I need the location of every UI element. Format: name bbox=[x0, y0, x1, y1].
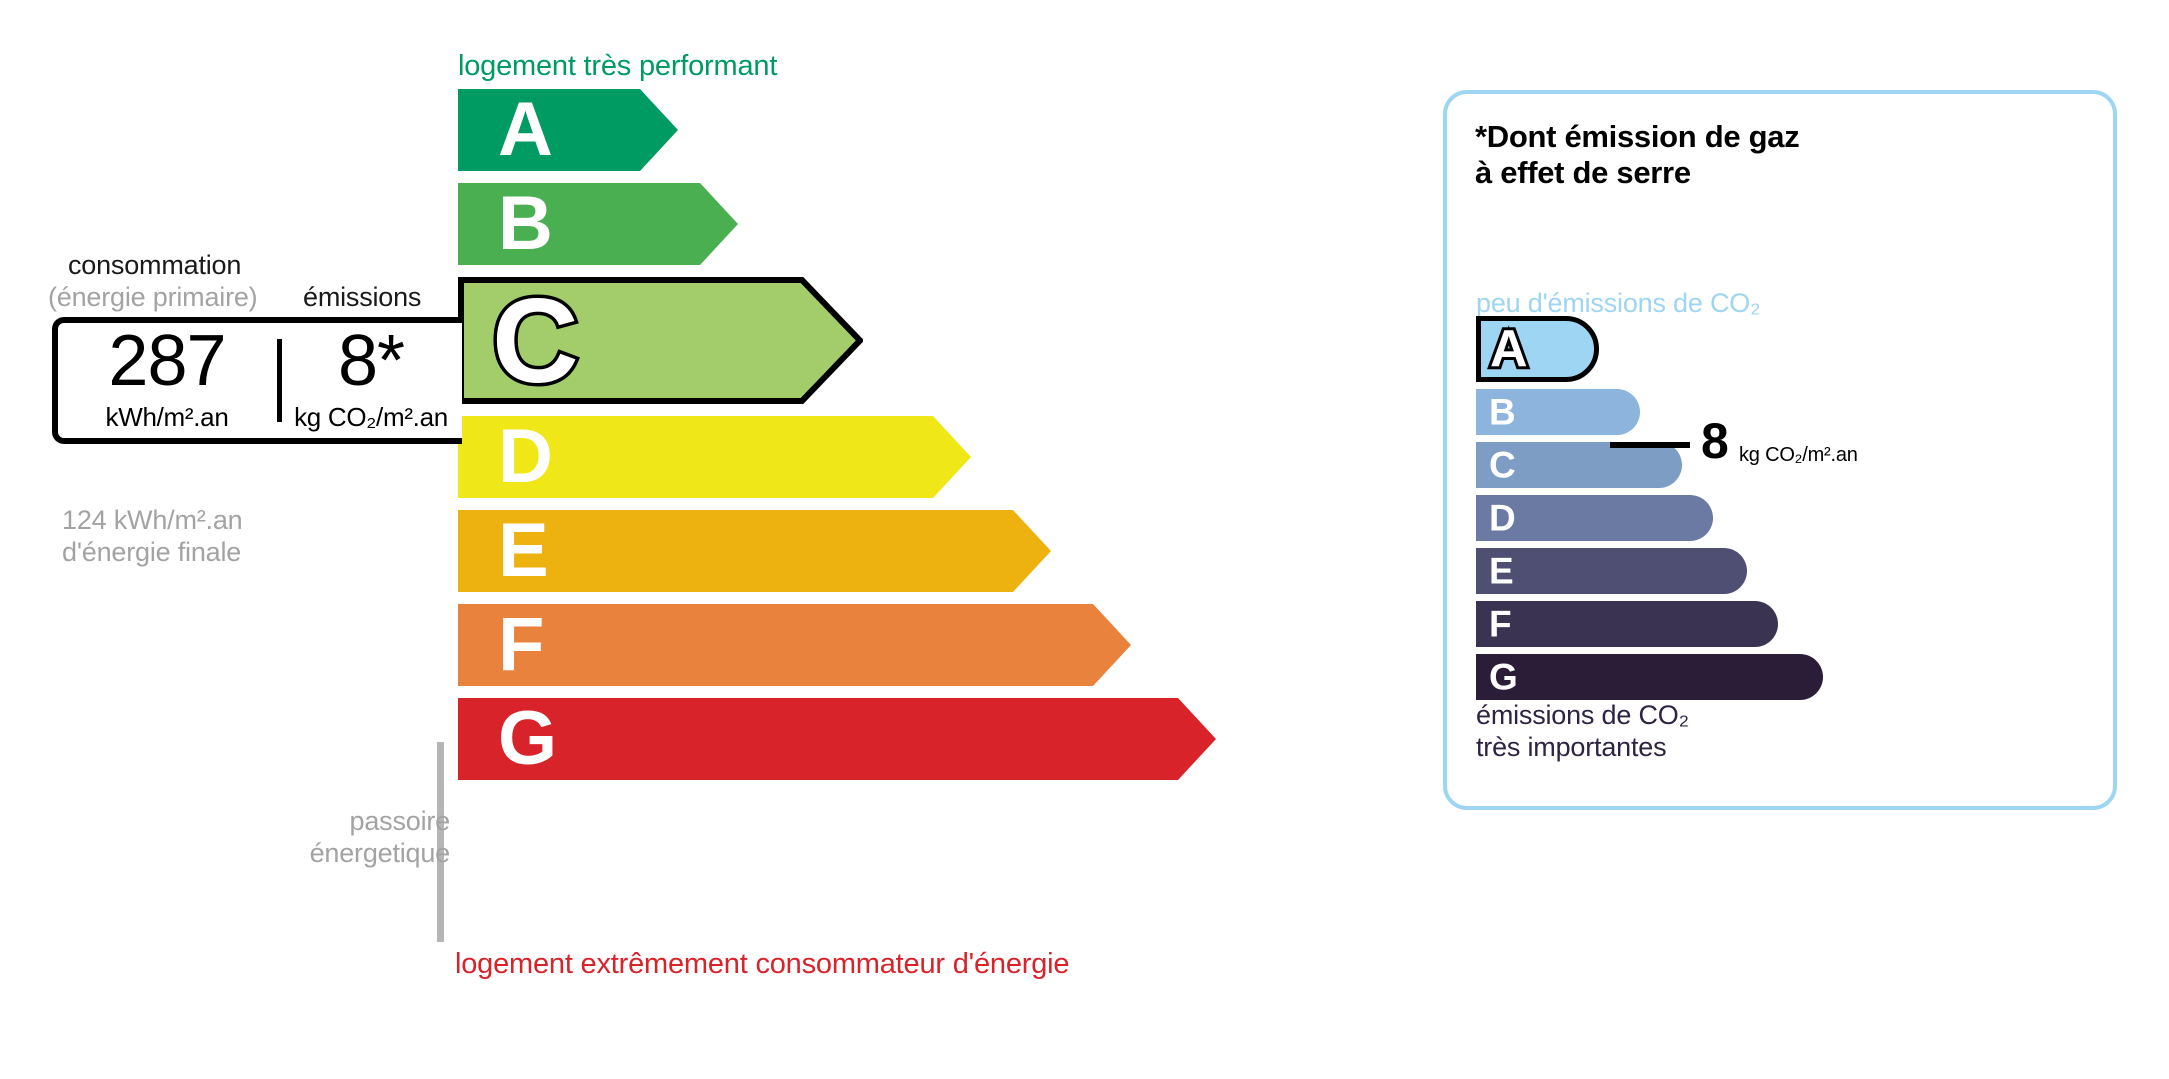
co2-class-bar-e bbox=[1476, 548, 1747, 594]
co2-measured-value: 8 bbox=[1701, 416, 1729, 466]
co2-class-letter-f: F bbox=[1489, 606, 1512, 643]
passoire-label: passoire énergetique bbox=[255, 805, 450, 870]
energy-class-arrow-a bbox=[458, 89, 678, 171]
co2-emissions-panel: *Dont émission de gaz à effet de serre p… bbox=[1443, 90, 2117, 810]
emissions-header: émissions bbox=[303, 282, 421, 313]
co2-class-row-d: D bbox=[1476, 495, 1713, 541]
energy-class-row-e: E bbox=[458, 510, 1051, 592]
primary-energy-header: (énergie primaire) bbox=[48, 282, 257, 313]
energy-class-row-c: C bbox=[458, 277, 863, 404]
co2-class-bar-g bbox=[1476, 654, 1823, 700]
co2-class-bar-f bbox=[1476, 601, 1778, 647]
co2-class-row-f: F bbox=[1476, 601, 1778, 647]
final-energy-caption: d'énergie finale bbox=[62, 537, 242, 569]
emission-unit: kg CO₂/m².an bbox=[294, 402, 448, 433]
co2-bottom-label: émissions de CO₂ très importantes bbox=[1476, 700, 1689, 764]
co2-class-letter-d: D bbox=[1489, 500, 1516, 537]
energy-class-letter-d: D bbox=[498, 419, 553, 495]
final-energy-note: 124 kWh/m².an d'énergie finale bbox=[62, 505, 242, 569]
energy-class-row-d: D bbox=[458, 416, 971, 498]
consumption-value-cell: 287 kWh/m².an bbox=[58, 323, 276, 438]
co2-class-row-e: E bbox=[1476, 548, 1747, 594]
energy-class-letter-g: G bbox=[498, 701, 557, 777]
energy-class-row-a: A bbox=[458, 89, 678, 171]
energy-class-letter-e: E bbox=[498, 513, 549, 589]
co2-bottom-line-1: émissions de CO₂ bbox=[1476, 700, 1689, 732]
consumption-value: 287 bbox=[108, 328, 225, 396]
consumption-header: consommation bbox=[68, 250, 241, 281]
energy-class-row-g: G bbox=[458, 698, 1216, 780]
co2-title-line-1: *Dont émission de gaz bbox=[1475, 119, 1799, 155]
co2-class-row-b: B bbox=[1476, 389, 1640, 435]
emission-value-cell: 8* kg CO₂/m².an bbox=[282, 323, 460, 438]
co2-panel-title: *Dont émission de gaz à effet de serre bbox=[1475, 119, 1799, 191]
co2-class-letter-b: B bbox=[1489, 394, 1516, 431]
co2-class-letter-e: E bbox=[1489, 553, 1514, 590]
final-energy-value: 124 kWh/m².an bbox=[62, 505, 242, 537]
energy-class-letter-f: F bbox=[498, 607, 544, 683]
energy-class-arrow-g bbox=[458, 698, 1216, 780]
co2-top-label: peu d'émissions de CO₂ bbox=[1476, 288, 1760, 319]
energy-class-letter-a: A bbox=[498, 92, 553, 168]
consumption-unit: kWh/m².an bbox=[106, 402, 229, 433]
scale-top-label: logement très performant bbox=[458, 50, 777, 83]
energy-class-arrow-f bbox=[458, 604, 1131, 686]
co2-class-letter-a: A bbox=[1490, 323, 1528, 375]
measured-values-box: 287 kWh/m².an 8* kg CO₂/m².an bbox=[52, 317, 462, 444]
energy-class-row-f: F bbox=[458, 604, 1131, 686]
co2-title-line-2: à effet de serre bbox=[1475, 155, 1799, 191]
passoire-line-1: passoire bbox=[255, 805, 450, 837]
co2-measured-unit: kg CO₂/m².an bbox=[1739, 444, 1858, 467]
emission-value: 8* bbox=[338, 328, 404, 396]
energy-class-letter-b: B bbox=[498, 186, 553, 262]
co2-class-row-c: C bbox=[1476, 442, 1682, 488]
co2-class-letter-g: G bbox=[1489, 659, 1518, 696]
energy-class-letter-c: C bbox=[492, 281, 579, 401]
scale-bottom-label: logement extrêmement consommateur d'éner… bbox=[455, 948, 1069, 981]
co2-class-letter-c: C bbox=[1489, 447, 1516, 484]
passoire-line-2: énergetique bbox=[255, 837, 450, 869]
co2-class-row-a: A bbox=[1476, 316, 1599, 382]
co2-connector-line bbox=[1610, 442, 1690, 448]
co2-bottom-line-2: très importantes bbox=[1476, 732, 1689, 764]
co2-class-row-g: G bbox=[1476, 654, 1823, 700]
energy-class-row-b: B bbox=[458, 183, 738, 265]
energy-performance-scale: logement très performant ABCDEFG consomm… bbox=[0, 0, 1320, 1079]
